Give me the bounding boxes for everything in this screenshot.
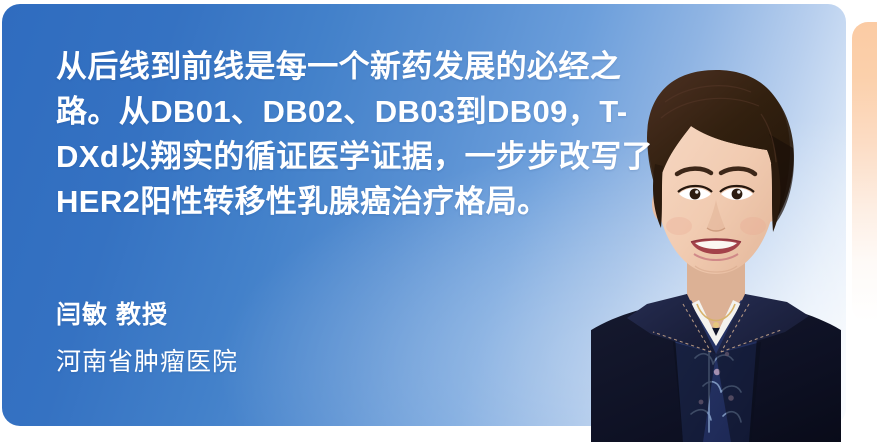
speaker-info-block: 闫敏 教授 河南省肿瘤医院 bbox=[56, 296, 238, 380]
quote-text-block: 从后线到前线是每一个新药发展的必经之路。从DB01、DB02、DB03到DB09… bbox=[56, 44, 656, 224]
quote-text: 从后线到前线是每一个新药发展的必经之路。从DB01、DB02、DB03到DB09… bbox=[56, 44, 656, 224]
quote-card-stage: 从后线到前线是每一个新药发展的必经之路。从DB01、DB02、DB03到DB09… bbox=[0, 0, 877, 442]
speaker-name: 闫敏 教授 bbox=[56, 296, 238, 334]
accent-card-background bbox=[852, 22, 877, 322]
speaker-affiliation: 河南省肿瘤医院 bbox=[56, 344, 238, 380]
